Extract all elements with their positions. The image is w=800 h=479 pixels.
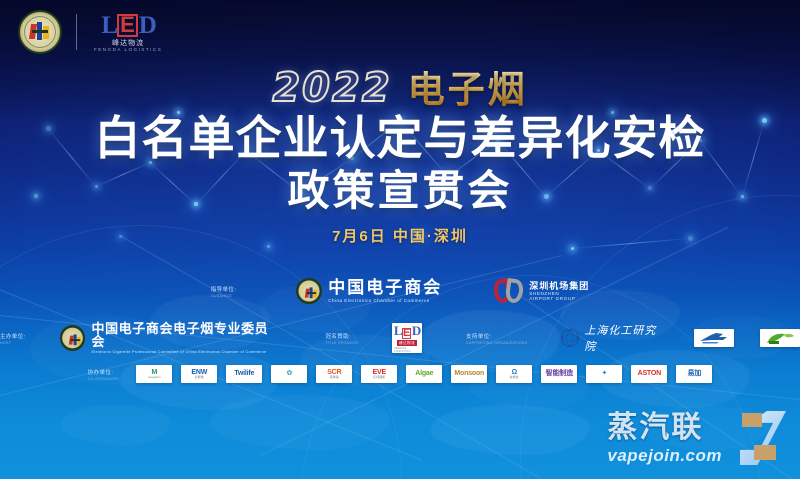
- lfd-sm-en: FENGDA LOGISTICS: [394, 347, 420, 353]
- leaf-icon: [765, 332, 795, 345]
- title-sponsor-label-en: TITLE SPONSOR: [325, 341, 358, 345]
- lfd-letter-l: L: [101, 13, 116, 38]
- sponsor-row-partners: 协办单位: CO-ORGANIZER MmegawinENW易能微Twilife…: [0, 365, 800, 383]
- sponsor-row-host: 主办单位: HOST 中国电子商会电子烟专业委员会 Electronic Cig…: [0, 322, 800, 355]
- partner-logo-8: Monsoon: [451, 365, 487, 383]
- support-label: 支持单位: SUPPORTING ORGANIZATIONS: [466, 332, 527, 345]
- shenzhen-airport-name: 深圳机场集团 SHENZHEN AIRPORT GROUP: [529, 281, 589, 302]
- watermark: 蒸汽联 vapejoin.com: [607, 409, 788, 467]
- host-name-cn: 中国电子商会电子烟专业委员会: [91, 322, 281, 348]
- partner-logo-mark: ✦: [601, 370, 607, 377]
- lfd-letter-d: D: [139, 13, 155, 38]
- sz-name-en2: AIRPORT GROUP: [529, 296, 589, 301]
- watermark-cn: 蒸汽联: [607, 413, 703, 443]
- guidance-org-cec: 中国电子商会 China Electronics Chamber of Comm…: [296, 278, 442, 304]
- partner-logo-mark: ASTON: [638, 370, 661, 377]
- fengda-name-en: FENGDA LOGISTICS: [94, 48, 162, 53]
- event-poster: L E D 峰达物流 FENGDA LOGISTICS 2022 电子烟 白名单…: [0, 0, 800, 479]
- lfd-sm-e: E: [402, 328, 411, 339]
- title-sponsor-label: 冠名赞助: TITLE SPONSOR: [325, 332, 358, 345]
- partners-label-cn: 协办单位:: [88, 368, 120, 376]
- title-sub: 政策宣贯会: [0, 168, 800, 213]
- partner-logo-1: Mmegawin: [136, 365, 172, 383]
- support-label-en: SUPPORTING ORGANIZATIONS: [466, 341, 527, 345]
- cec-name-en: China Electronics Chamber of Commerce: [328, 299, 442, 304]
- watermark-text: 蒸汽联 vapejoin.com: [607, 413, 722, 464]
- supporter-leaf-logo: [760, 329, 800, 347]
- shenzhen-airport-icon: [494, 278, 524, 304]
- header-divider: [76, 14, 77, 50]
- fengda-name-cn: 峰达物流: [112, 40, 144, 47]
- cec-seal-icon: [18, 10, 62, 54]
- watermark-en: vapejoin.com: [607, 447, 722, 464]
- host-name: 中国电子商会电子烟专业委员会 Electronic Cigarette Prof…: [91, 322, 281, 355]
- partner-logo-sub: megawin: [148, 376, 161, 379]
- host-label: 主办单位: HOST: [0, 332, 26, 345]
- partners-label: 协办单位: CO-ORGANIZER: [88, 368, 120, 381]
- network-dot: [571, 247, 574, 250]
- partner-logo-sub: 亿纬锂能: [373, 376, 385, 379]
- title-sponsor-label-cn: 冠名赞助:: [325, 332, 358, 340]
- sz-name-cn: 深圳机场集团: [529, 281, 589, 291]
- supporter-sices: 上海化工研究院: [561, 322, 668, 354]
- lfd-sm-d: D: [412, 323, 420, 339]
- partner-logo-10: 智能制造: [541, 365, 577, 383]
- title-sponsor-logo: L E D 峰达物流 FENGDA LOGISTICS: [392, 323, 422, 353]
- sponsor-row-guidance: 指导单位: GUIDANCE 中国电子商会 China Electronics …: [0, 278, 800, 304]
- plane-icon: [699, 332, 729, 344]
- partner-logo-mark: ✿: [286, 370, 292, 377]
- partner-logo-4: ✿: [271, 365, 307, 383]
- lfd-letter-e: E: [117, 14, 138, 37]
- host-organization: 中国电子商会电子烟专业委员会 Electronic Cigarette Prof…: [60, 322, 282, 355]
- guidance-label-cn: 指导单位:: [211, 285, 237, 293]
- partner-logo-mark: Twilife: [234, 370, 254, 377]
- cec-seal-icon: [60, 325, 86, 351]
- supporter-sices-name: 上海化工研究院: [584, 322, 668, 354]
- partner-logo-7: Algae: [406, 365, 442, 383]
- partner-logo-mark: Algae: [415, 370, 433, 377]
- lfd-sm-l: L: [394, 323, 402, 339]
- lfd-mark-icon: L E D: [101, 12, 154, 38]
- partner-logo-list: MmegawinENW易能微Twilife✿SCR思瑞浦EVE亿纬锂能Algae…: [136, 365, 712, 383]
- title-main: 白名单企业认定与差异化安检: [0, 114, 800, 164]
- lfd-mark-icon: L E D: [394, 323, 420, 339]
- event-dateline: 7月6日 中国·深圳: [0, 225, 800, 246]
- title-keyword: 电子烟: [408, 71, 528, 108]
- partner-logo-2: ENW易能微: [181, 365, 217, 383]
- supporter-plane-logo: [694, 329, 734, 347]
- guidance-label: 指导单位: GUIDANCE: [211, 285, 237, 298]
- partner-logo-12: ASTON: [631, 365, 667, 383]
- host-label-cn: 主办单位:: [0, 332, 26, 340]
- partner-logo-sub: 思瑞浦: [330, 376, 339, 379]
- partner-logo-mark: 易加: [687, 370, 701, 377]
- host-label-en: HOST: [0, 341, 26, 345]
- fengda-logistics-logo: L E D 峰达物流 FENGDA LOGISTICS: [91, 12, 165, 53]
- partner-logo-9: Ω欧姆龙: [496, 365, 532, 383]
- partner-logo-sub: 易能微: [195, 376, 204, 379]
- host-name-en: Electronic Cigarette Professional Commit…: [91, 351, 281, 355]
- title-line-one: 2022 电子烟: [0, 62, 800, 108]
- header-logo-bar: L E D 峰达物流 FENGDA LOGISTICS: [18, 10, 165, 54]
- partner-logo-mark: Monsoon: [454, 370, 484, 377]
- partner-logo-5: SCR思瑞浦: [316, 365, 352, 383]
- partner-logo-13: 易加: [676, 365, 712, 383]
- support-label-cn: 支持单位:: [466, 332, 527, 340]
- guidance-org-shenzhen-airport: 深圳机场集团 SHENZHEN AIRPORT GROUP: [494, 278, 589, 304]
- partners-label-en: CO-ORGANIZER: [88, 377, 120, 381]
- guidance-label-en: GUIDANCE: [211, 294, 237, 298]
- title-block: 2022 电子烟 白名单企业认定与差异化安检 政策宣贯会 7月6日 中国·深圳: [0, 62, 800, 246]
- partner-logo-6: EVE亿纬锂能: [361, 365, 397, 383]
- globe-icon: [561, 329, 579, 347]
- partner-logo-3: Twilife: [226, 365, 262, 383]
- partner-logo-11: ✦: [586, 365, 622, 383]
- cec-name: 中国电子商会 China Electronics Chamber of Comm…: [328, 279, 442, 304]
- cec-name-cn: 中国电子商会: [328, 279, 442, 296]
- partner-logo-sub: 欧姆龙: [510, 376, 519, 379]
- lfd-sm-tag: 峰达物流: [397, 340, 417, 346]
- title-year: 2022: [272, 68, 391, 108]
- cec-seal-icon: [296, 278, 322, 304]
- partner-logo-mark: 智能制造: [546, 370, 573, 377]
- vapejoin-logo-icon: [726, 409, 788, 467]
